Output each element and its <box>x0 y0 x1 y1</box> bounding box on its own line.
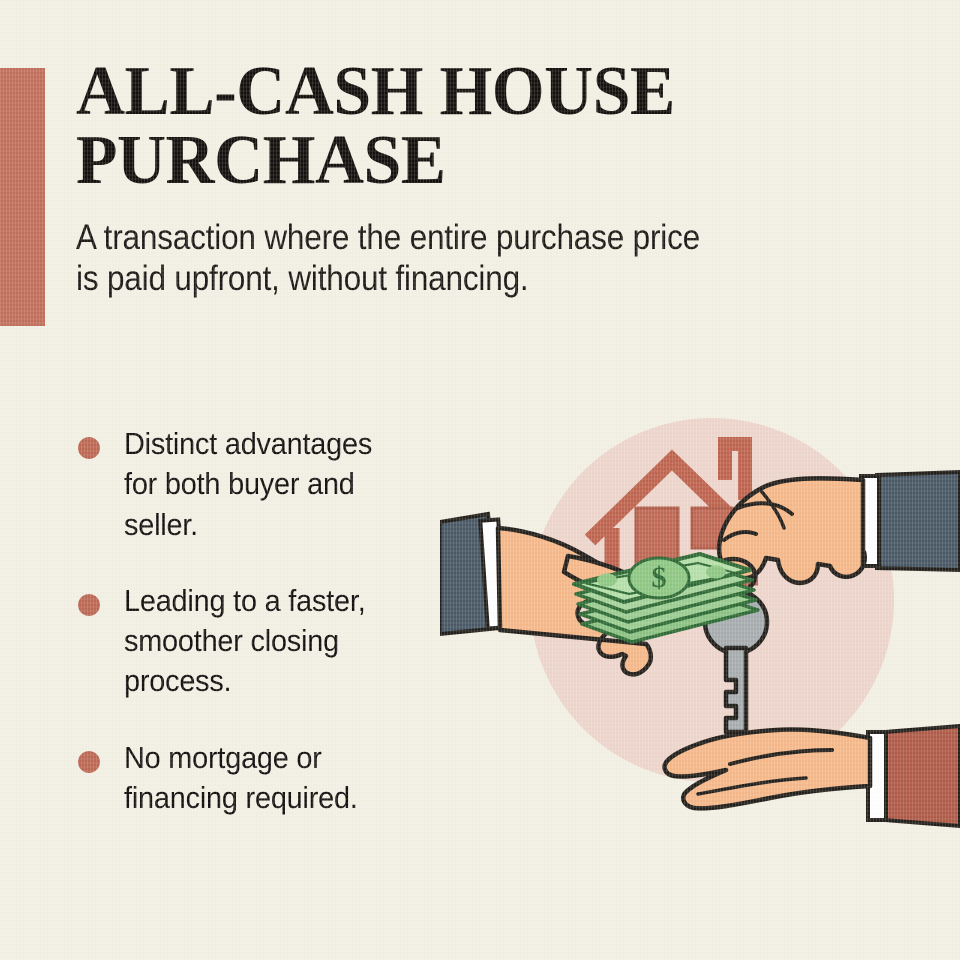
cash-corner-dot-left <box>597 574 617 587</box>
list-item-label: Leading to a faster, smoother closing pr… <box>124 581 451 702</box>
sleeve-rust-lower <box>885 726 960 826</box>
list-item: No mortgage or financing required. <box>76 738 476 819</box>
accent-bar <box>0 68 45 326</box>
bullet-dot-icon <box>78 751 100 773</box>
cash-for-keys-illustration: $ <box>440 380 960 840</box>
list-item-label: Distinct advantages for both buyer and s… <box>124 424 451 545</box>
list-item: Distinct advantages for both buyer and s… <box>76 424 476 545</box>
dollar-symbol: $ <box>652 561 667 594</box>
benefit-list: Distinct advantages for both buyer and s… <box>76 424 476 818</box>
page-title: ALL-CASH HOUSE PURCHASE <box>76 58 881 195</box>
bullet-dot-icon <box>78 437 100 459</box>
cash-corner-dot-right <box>706 566 726 579</box>
header-block: ALL-CASH HOUSE PURCHASE A transaction wh… <box>76 58 906 300</box>
page-subtitle: A transaction where the entire purchase … <box>76 217 823 300</box>
bullet-dot-icon <box>78 594 100 616</box>
list-item-label: No mortgage or financing required. <box>124 738 451 819</box>
hand-receiving <box>665 726 960 826</box>
list-item: Leading to a faster, smoother closing pr… <box>76 581 476 702</box>
infographic-poster: ALL-CASH HOUSE PURCHASE A transaction wh… <box>0 0 960 960</box>
sleeve-blue-upper <box>877 472 960 570</box>
key-shaft <box>726 648 746 732</box>
